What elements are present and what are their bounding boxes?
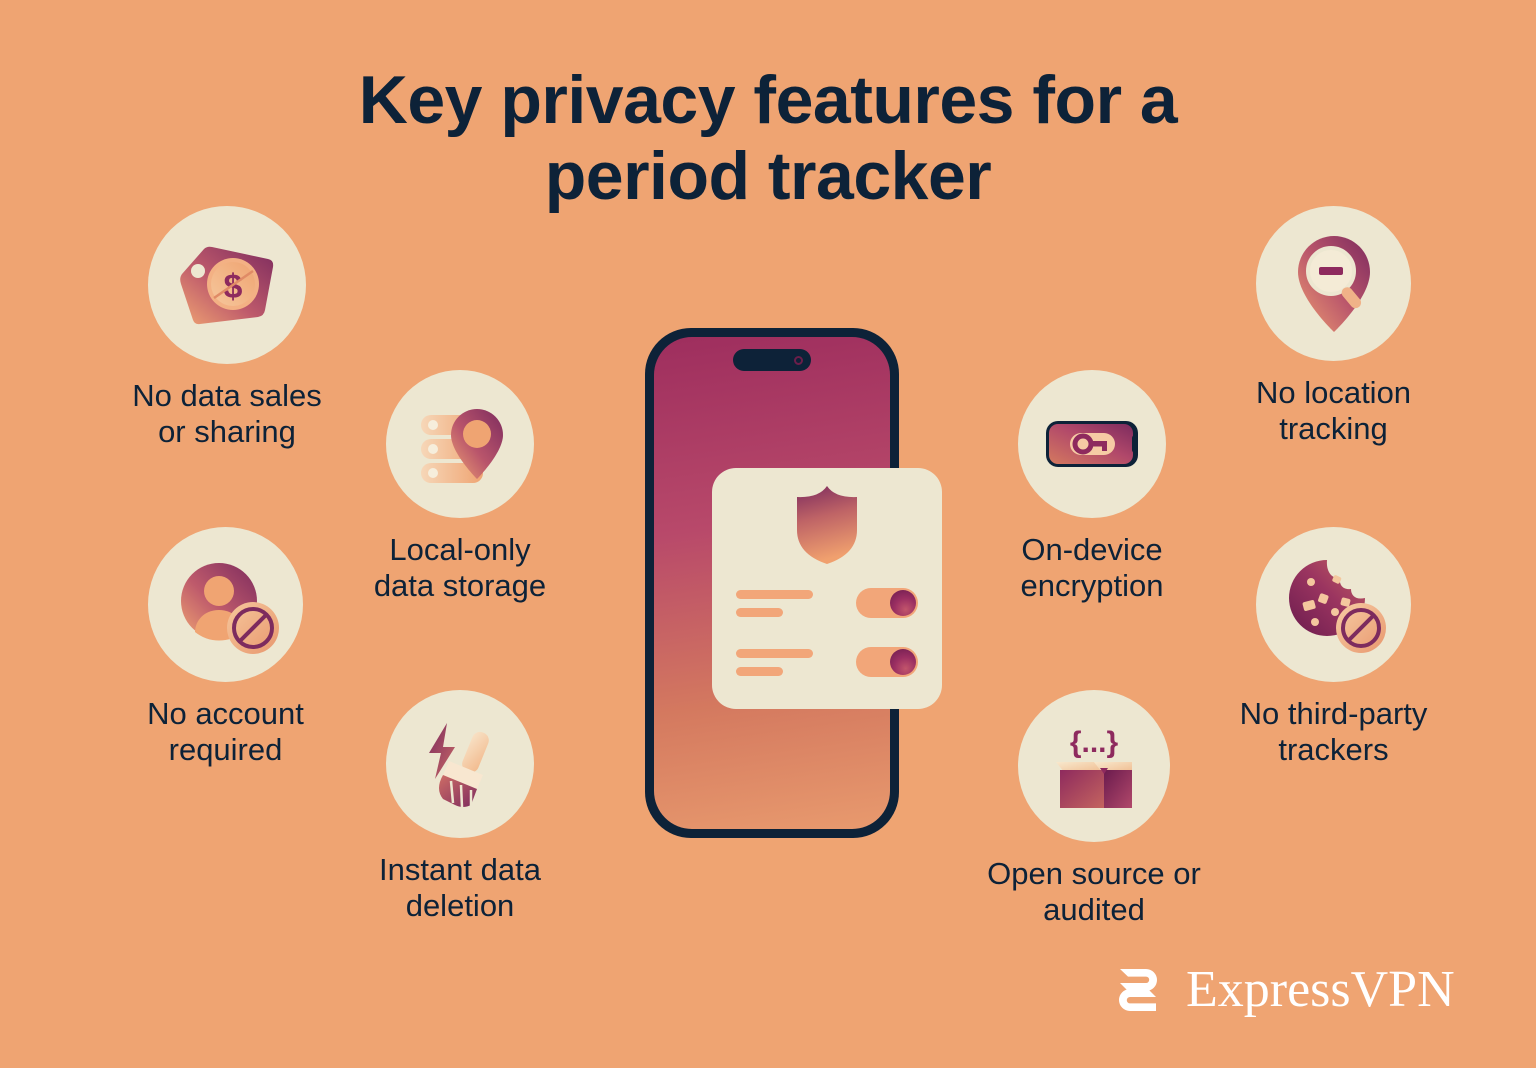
icon-circle — [386, 690, 534, 838]
price-tag-dollar-icon: $ — [168, 226, 286, 344]
toggle-knob — [890, 649, 916, 675]
icon-circle: $ — [148, 206, 306, 364]
setting-text-lines — [736, 590, 813, 617]
settings-rows — [712, 588, 942, 677]
feature-local-only: Local-only data storage — [386, 370, 534, 518]
feature-label: No location tracking — [1169, 375, 1499, 448]
text-line — [736, 667, 783, 676]
phone-key-icon — [1036, 388, 1148, 500]
setting-text-lines — [736, 649, 813, 676]
feature-label: No third-party trackers — [1169, 696, 1499, 769]
svg-text:$: $ — [224, 268, 243, 306]
location-pin-magnifier-minus-icon — [1276, 226, 1392, 342]
icon-circle — [386, 370, 534, 518]
settings-row — [736, 647, 918, 677]
feature-no-third-party-trackers: No third-party trackers — [1256, 527, 1411, 682]
icon-circle — [1256, 206, 1411, 361]
feature-label: Local-only data storage — [295, 532, 625, 605]
privacy-toggle-2[interactable] — [856, 647, 918, 677]
expressvpn-wordmark: ExpressVPN — [1186, 964, 1455, 1016]
shield-icon — [795, 484, 859, 566]
server-location-pin-icon — [405, 389, 515, 499]
svg-text:{...}: {...} — [1070, 726, 1119, 759]
feature-label: On-device encryption — [927, 532, 1257, 605]
feature-no-data-sales: $ No data sales or sharing — [148, 206, 306, 364]
privacy-settings-card — [712, 468, 942, 709]
front-camera-dot — [794, 356, 803, 365]
page-title: Key privacy features for a period tracke… — [0, 62, 1536, 214]
expressvpn-logo: ExpressVPN — [1108, 960, 1455, 1020]
toggle-knob — [890, 590, 916, 616]
icon-circle: {...} — [1018, 690, 1170, 842]
feature-on-device-encryption: On-device encryption — [1018, 370, 1166, 518]
feature-label: Instant data deletion — [295, 852, 625, 925]
icon-circle — [1018, 370, 1166, 518]
text-line — [736, 608, 783, 617]
feature-label: Open source or audited — [929, 856, 1259, 929]
feature-label: No account required — [61, 696, 391, 769]
cookie-blocked-icon — [1275, 546, 1393, 664]
feature-instant-deletion: Instant data deletion — [386, 690, 534, 838]
feature-open-source-audited: {...} Open source or audited — [1018, 690, 1170, 842]
settings-row — [736, 588, 918, 618]
text-line — [736, 649, 813, 658]
user-blocked-icon — [167, 546, 285, 664]
text-line — [736, 590, 813, 599]
feature-no-account: No account required — [148, 527, 303, 682]
broom-lightning-icon — [405, 709, 515, 819]
feature-label: No data sales or sharing — [62, 378, 392, 451]
icon-circle — [148, 527, 303, 682]
icon-circle — [1256, 527, 1411, 682]
privacy-toggle-1[interactable] — [856, 588, 918, 618]
expressvpn-e-mark-icon — [1108, 960, 1168, 1020]
dynamic-island — [733, 349, 811, 371]
open-box-code-icon: {...} — [1038, 710, 1150, 822]
feature-no-location-tracking: No location tracking — [1256, 206, 1411, 361]
